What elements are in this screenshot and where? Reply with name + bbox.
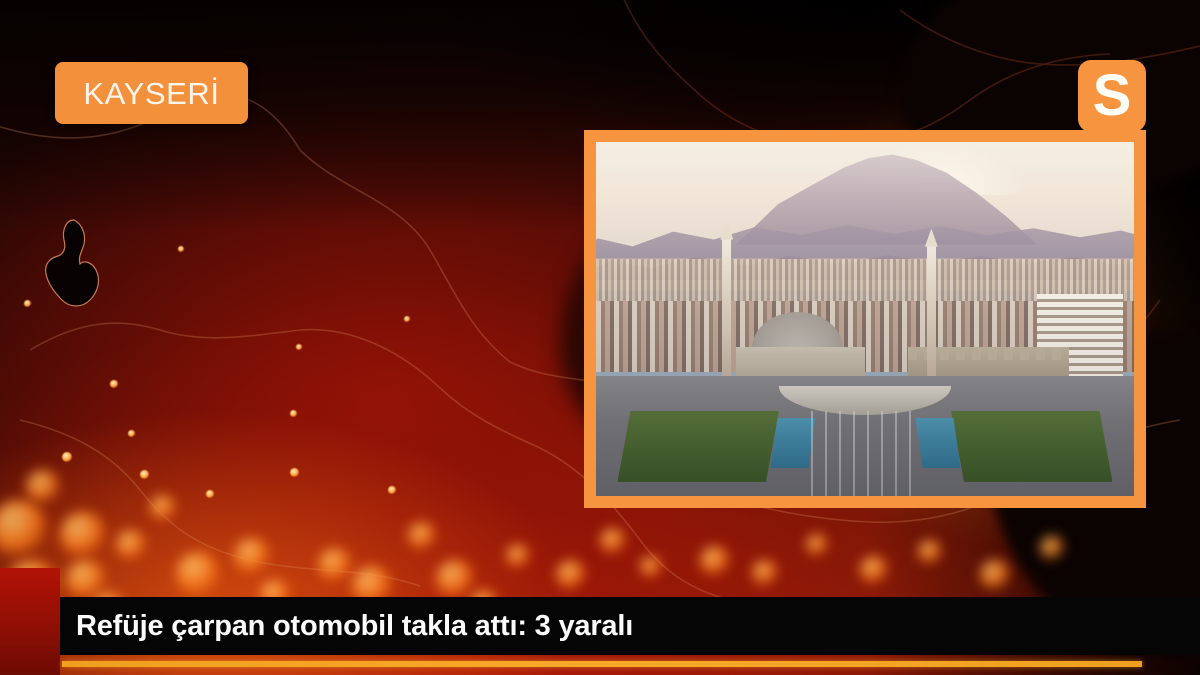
progress-fill xyxy=(62,661,1142,667)
headline-accent-bar xyxy=(0,568,60,675)
news-card: KAYSERİ S xyxy=(0,0,1200,675)
city-name-badge: KAYSERİ xyxy=(55,62,248,124)
city-photo xyxy=(596,142,1134,496)
photo-card xyxy=(584,130,1146,508)
city-name-label: KAYSERİ xyxy=(83,78,219,109)
progress-track[interactable] xyxy=(62,661,1142,667)
photo-haze-overlay xyxy=(596,142,1134,496)
logo-letter: S xyxy=(1093,67,1132,125)
headline-band: Refüje çarpan otomobil takla attı: 3 yar… xyxy=(58,597,1200,655)
site-logo[interactable]: S xyxy=(1078,60,1146,132)
headline-text: Refüje çarpan otomobil takla attı: 3 yar… xyxy=(58,610,633,643)
